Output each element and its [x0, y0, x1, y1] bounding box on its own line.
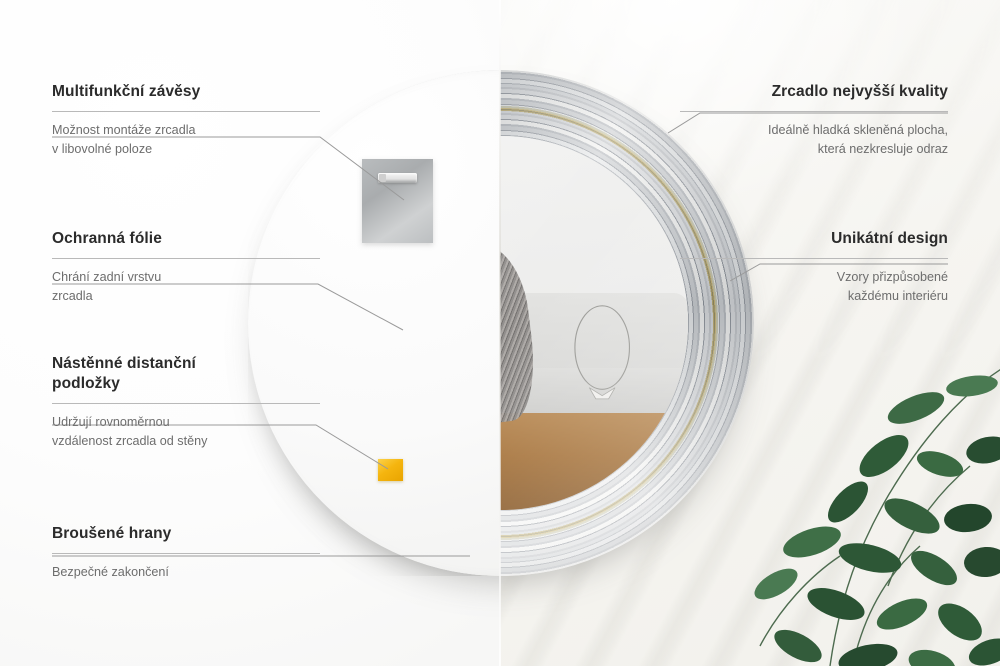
- feature-block-nastenne-distancni-podlozky: Nástěnné distanční podložky Udržují rovn…: [52, 354, 320, 450]
- feature-title: Unikátní design: [680, 229, 948, 249]
- feature-title: Nástěnné distanční podložky: [52, 354, 320, 394]
- feature-rule: [52, 553, 320, 554]
- feature-desc: Ideálně hladká skleněná plocha, která ne…: [680, 121, 948, 159]
- feature-block-multifunkcni-zavesy: Multifunkční závěsy Možnost montáže zrca…: [52, 82, 320, 159]
- feature-block-ochranna-folie: Ochranná fólie Chrání zadní vrstvu zrcad…: [52, 229, 320, 306]
- feature-desc: Udržují rovnoměrnou vzdálenost zrcadla o…: [52, 413, 320, 451]
- feature-title: Broušené hrany: [52, 524, 320, 544]
- wall-hanger-plate: [362, 159, 433, 243]
- feature-rule: [52, 258, 320, 259]
- feature-rule: [680, 111, 948, 112]
- feature-block-zrcadlo-nejvyssi-kvality: Zrcadlo nejvyšší kvality Ideálně hladká …: [680, 82, 948, 159]
- feature-title: Zrcadlo nejvyšší kvality: [680, 82, 948, 102]
- hanger-slot-icon: [378, 173, 418, 183]
- feature-block-brousene-hrany: Broušené hrany Bezpečné zakončení: [52, 524, 320, 582]
- feature-block-unikatni-design: Unikátní design Vzory přizpůsobené každé…: [680, 229, 948, 306]
- feature-rule: [680, 258, 948, 259]
- feature-desc: Bezpečné zakončení: [52, 563, 320, 582]
- split-divider: [499, 0, 501, 666]
- feature-rule: [52, 111, 320, 112]
- feature-desc: Chrání zadní vrstvu zrcadla: [52, 268, 320, 306]
- feature-title: Ochranná fólie: [52, 229, 320, 249]
- feature-desc: Možnost montáže zrcadla v libovolné polo…: [52, 121, 320, 159]
- feature-title: Multifunkční závěsy: [52, 82, 320, 102]
- infographic-canvas: Multifunkční závěsy Možnost montáže zrca…: [0, 0, 1000, 666]
- spacer-pad: [378, 459, 403, 481]
- foliage-decoration: [720, 346, 1000, 666]
- feature-desc: Vzory přizpůsobené každému interiéru: [680, 268, 948, 306]
- feature-rule: [52, 403, 320, 404]
